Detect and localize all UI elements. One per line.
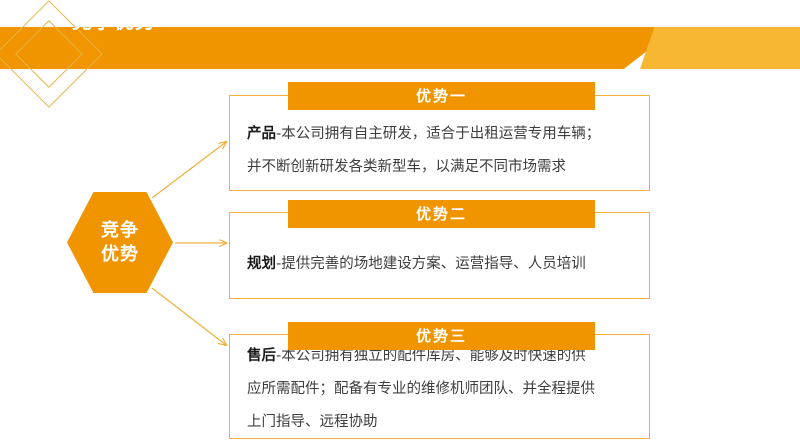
advantage-body-2: 规划-提供完善的场地建设方案、运营指导、人员培训 bbox=[247, 248, 637, 281]
advantage-text-2-line-1: 提供完善的场地建设方案、运营指导、人员培训 bbox=[281, 256, 586, 272]
hub-hexagon: 竞争 优势 bbox=[67, 192, 173, 293]
hub-label-line1: 竞争 bbox=[101, 219, 139, 243]
advantage-body-3: 售后-本公司拥有独立的配件库房、能够及时快速的供 应所需配件；配备有专业的维修机… bbox=[247, 340, 637, 439]
advantage-body-3-line-3: 上门指导、远程协助 bbox=[247, 406, 637, 439]
slide-canvas: 竞争优势 竞争 优势 优势一 产品-本公司拥有自主研发，适合于出租运营专用车辆；… bbox=[0, 0, 800, 447]
hub-label-line2: 优势 bbox=[101, 243, 139, 267]
advantage-tab-2: 优势二 bbox=[288, 200, 595, 228]
advantage-body-3-line-2: 应所需配件；配备有专业的维修机师团队、并全程提供 bbox=[247, 373, 637, 406]
advantage-text-3-line-1: 本公司拥有独立的配件库房、能够及时快速的供 bbox=[281, 348, 586, 364]
banner-tail-shape bbox=[640, 27, 800, 69]
advantage-lead-3: 售后 bbox=[247, 348, 276, 364]
advantage-tab-1: 优势一 bbox=[288, 82, 595, 110]
advantage-lead-2: 规划 bbox=[247, 256, 276, 272]
advantage-body-1-line-1: 产品-本公司拥有自主研发，适合于出租运营专用车辆； bbox=[247, 118, 637, 151]
advantage-lead-1: 产品 bbox=[247, 126, 276, 142]
advantage-text-1-line-1: 本公司拥有自主研发，适合于出租运营专用车辆； bbox=[281, 126, 600, 142]
advantage-body-1-line-2: 并不断创新研发各类新型车，以满足不同市场需求 bbox=[247, 151, 637, 184]
advantage-tab-3: 优势三 bbox=[288, 322, 595, 350]
page-title: 竞争优势 bbox=[72, 0, 156, 42]
advantage-body-2-line-1: 规划-提供完善的场地建设方案、运营指导、人员培训 bbox=[247, 248, 637, 281]
advantage-body-1: 产品-本公司拥有自主研发，适合于出租运营专用车辆； 并不断创新研发各类新型车，以… bbox=[247, 118, 637, 184]
